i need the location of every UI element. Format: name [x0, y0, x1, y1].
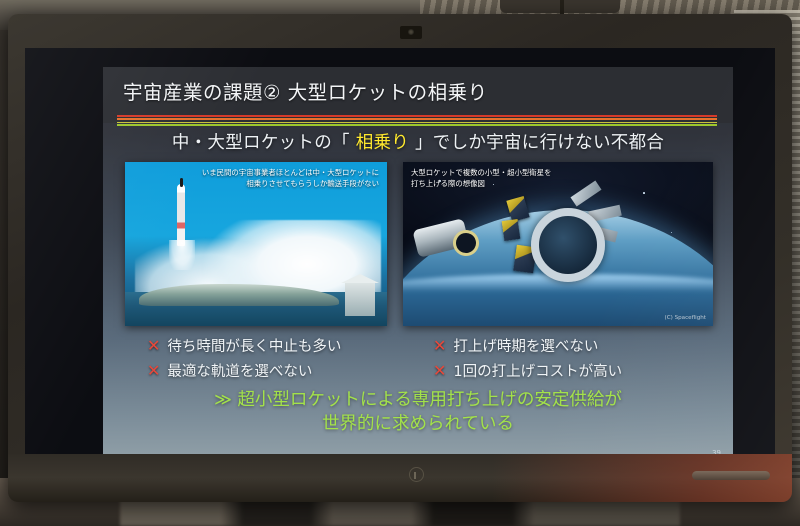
list-item-label: 打上げ時期を選べない: [453, 335, 598, 356]
solar-panel: [570, 181, 601, 207]
rocket-nose-icon: [180, 178, 183, 187]
list-item-label: 1回の打上げコストが高い: [453, 360, 622, 381]
power-button[interactable]: [409, 467, 424, 482]
conclusion-block: ≫ 超小型ロケットによる専用打ち上げの安定供給が 世界的に求められている: [103, 389, 733, 436]
cross-icon: ✕: [147, 338, 160, 354]
conclusion-line-1: ≫ 超小型ロケットによる専用打ち上げの安定供給が: [103, 389, 733, 413]
list-item: ✕ 待ち時間が長く中止も多い: [147, 333, 341, 358]
speaker-grill-icon: [692, 471, 770, 480]
rule-orange: [117, 118, 717, 120]
subtitle-pre: 中・大型ロケットの「: [172, 133, 356, 153]
cross-icon: ✕: [433, 338, 446, 354]
double-chevron-icon: ≫: [214, 390, 232, 410]
left-photo-caption: いま民間の宇宙事業者ほとんどは中・大型ロケットに 相乗りさせてもらうしか輸送手段…: [202, 167, 379, 189]
cross-icon: ✕: [147, 363, 160, 379]
left-bullet-column: ✕ 待ち時間が長く中止も多い ✕ 最適な軌道を選べない: [147, 333, 341, 383]
list-item-label: 待ち時間が長く中止も多い: [167, 335, 341, 356]
conclusion-text-1: 超小型ロケットによる専用打ち上げの安定供給が: [237, 390, 621, 410]
conclusion-line-2: 世界的に求められている: [103, 413, 733, 437]
rocket-exhaust: [169, 240, 195, 270]
monitor-screen: 宇宙産業の課題② 大型ロケットの相乗り 中・大型ロケットの「 相乗り 」でしか宇…: [25, 48, 775, 488]
title-divider-rules: [117, 115, 717, 126]
rule-green: [117, 124, 717, 126]
list-item-label: 最適な軌道を選べない: [167, 360, 312, 381]
subtitle-post: 」でしか宇宙に行けない不都合: [409, 133, 664, 153]
list-item: ✕ 1回の打上げコストが高い: [433, 358, 622, 383]
deployer-ring: [531, 208, 605, 282]
subtitle-highlight: 相乗り: [356, 133, 409, 153]
presentation-slide: 宇宙産業の課題② 大型ロケットの相乗り 中・大型ロケットの「 相乗り 」でしか宇…: [103, 67, 733, 479]
rocket-launch-photo: いま民間の宇宙事業者ほとんどは中・大型ロケットに 相乗りさせてもらうしか輸送手段…: [125, 162, 387, 326]
star-icon: [671, 232, 672, 233]
right-photo-caption: 大型ロケットで複数の小型・超小型衛星を 打ち上げる際の想像図: [411, 167, 551, 189]
list-item: ✕ 打上げ時期を選べない: [433, 333, 622, 358]
satellite-deployer-photo: 大型ロケットで複数の小型・超小型衛星を 打ち上げる際の想像図 (C) Space…: [403, 162, 713, 326]
photo-credit: (C) Spaceflight: [665, 315, 706, 321]
photo-row: いま民間の宇宙事業者ほとんどは中・大型ロケットに 相乗りさせてもらうしか輸送手段…: [125, 162, 713, 326]
slide-title: 宇宙産業の課題② 大型ロケットの相乗り: [123, 76, 488, 105]
rocket-body: [177, 184, 185, 246]
webcam-lens-icon: [408, 29, 414, 35]
right-bullet-column: ✕ 打上げ時期を選べない ✕ 1回の打上げコストが高い: [433, 333, 622, 383]
rule-red: [117, 115, 717, 117]
cross-icon: ✕: [433, 363, 446, 379]
list-item: ✕ 最適な軌道を選べない: [147, 358, 341, 383]
launch-building: [345, 282, 375, 316]
slide-subtitle: 中・大型ロケットの「 相乗り 」でしか宇宙に行けない不都合: [103, 129, 733, 154]
star-icon: [643, 192, 645, 194]
monitor: 宇宙産業の課題② 大型ロケットの相乗り 中・大型ロケットの「 相乗り 」でしか宇…: [8, 14, 792, 502]
bullet-lists: ✕ 待ち時間が長く中止も多い ✕ 最適な軌道を選べない ✕ 打上げ時期を選べない…: [125, 333, 713, 385]
cubesat: [502, 219, 521, 241]
rule-yellow: [117, 122, 717, 123]
power-icon: [414, 472, 416, 479]
